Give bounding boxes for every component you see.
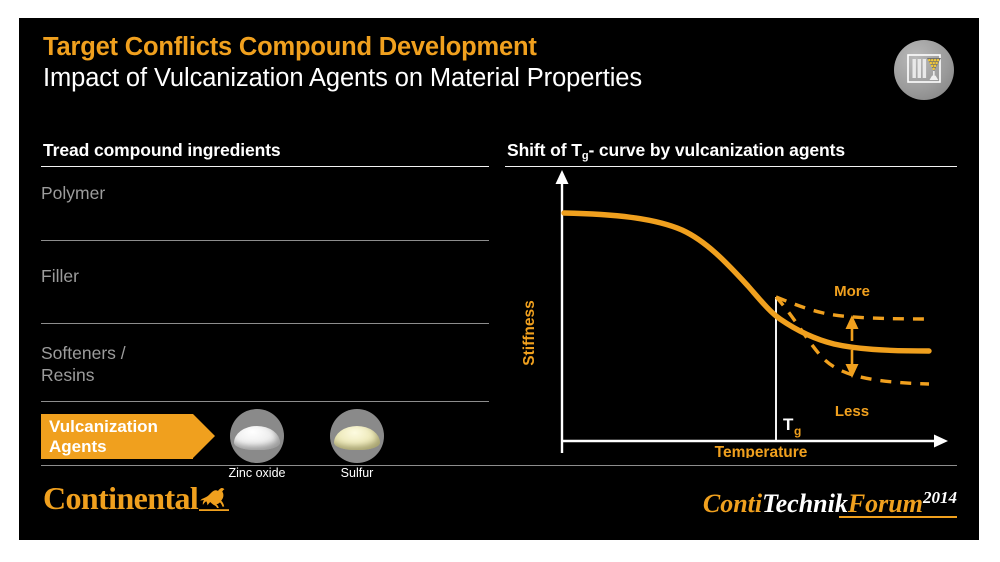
banner-arrow-icon <box>193 414 215 458</box>
slide-canvas: Target Conflicts Compound Development Im… <box>19 18 979 540</box>
forum-mark-forum: Forum <box>848 489 923 518</box>
tg-tick-label: T g <box>783 415 801 438</box>
series-more-curve <box>776 297 929 319</box>
conti-technik-forum-mark: ContiTechnikForum2014 <box>703 488 957 519</box>
annotation-less: Less <box>835 403 869 420</box>
chart-panel: More Less T g Stiffness Temperature <box>504 158 959 458</box>
conti-technik-forum-badge-icon <box>894 40 954 100</box>
continental-wordmark: Continental <box>43 480 198 516</box>
prancing-horse-icon <box>199 486 229 512</box>
right-heading-prefix: Shift of T <box>507 140 582 160</box>
list-item-filler[interactable]: Filler <box>41 241 489 324</box>
forum-mark-conti: Conti <box>703 489 762 518</box>
banner-label: Vulcanization Agents <box>49 417 158 457</box>
page-title: Target Conflicts Compound Development <box>43 32 642 62</box>
ingredient-label: Filler <box>41 265 79 287</box>
list-item-polymer[interactable]: Polymer <box>41 158 489 241</box>
tg-label-T: T <box>783 415 794 434</box>
sulfur-image <box>330 409 384 463</box>
y-axis-title: Stiffness <box>521 300 538 365</box>
page-subtitle: Impact of Vulcanization Agents on Materi… <box>43 62 642 94</box>
forum-mark-year: 2014 <box>923 488 957 507</box>
substance-zinc-oxide[interactable]: Zinc oxide <box>226 409 288 480</box>
substance-label: Zinc oxide <box>226 466 288 480</box>
ingredients-list: Polymer Filler Softeners / Resins Vulcan… <box>41 158 489 470</box>
x-axis-title: Temperature <box>715 444 808 458</box>
zinc-oxide-image <box>230 409 284 463</box>
right-heading-suffix: - curve by vulcanization agents <box>588 140 845 160</box>
forum-mark-underline <box>839 516 957 518</box>
substance-label: Sulfur <box>326 466 388 480</box>
y-axis-arrowhead <box>556 170 569 184</box>
forum-mark-technik: Technik <box>762 489 848 518</box>
tg-curve-chart: More Less T g Stiffness Temperature <box>504 158 959 458</box>
footer-divider <box>41 465 957 466</box>
ingredient-label: Polymer <box>41 182 105 204</box>
continental-logo: Continental <box>43 480 229 517</box>
list-item-softeners-resins[interactable]: Softeners / Resins <box>41 324 489 402</box>
x-axis-arrowhead <box>934 435 948 448</box>
ingredient-label: Softeners / Resins <box>41 342 126 386</box>
series-reference-curve <box>564 213 929 351</box>
substance-sulfur[interactable]: Sulfur <box>326 409 388 480</box>
list-item-vulcanization-agents[interactable]: Vulcanization Agents Zinc oxide Sulfur <box>41 402 489 470</box>
vulcanization-agents-banner[interactable]: Vulcanization Agents <box>41 414 193 459</box>
powder-shape <box>234 426 280 450</box>
title-block: Target Conflicts Compound Development Im… <box>43 32 642 94</box>
tg-label-subscript: g <box>794 424 801 438</box>
annotation-more: More <box>834 283 870 300</box>
powder-shape <box>334 426 380 450</box>
